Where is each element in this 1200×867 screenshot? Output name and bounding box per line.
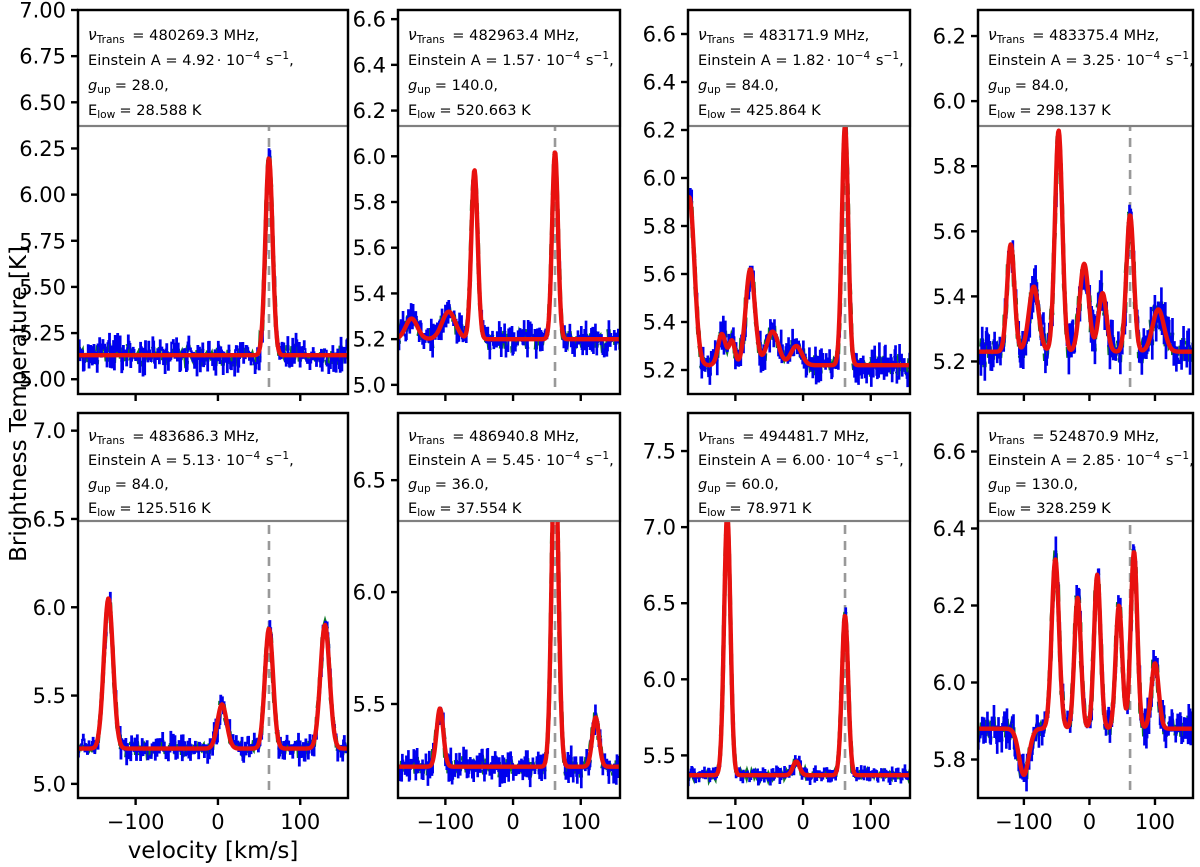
- y-tick-label: 6.75: [19, 45, 66, 69]
- y-tick-label: 6.6: [933, 440, 966, 464]
- y-tick-label: 6.0: [643, 167, 676, 191]
- y-axis-label: Brightness Temperature [K]: [6, 246, 32, 562]
- y-tick-label: 7.5: [643, 440, 676, 464]
- y-tick-label: 6.2: [353, 99, 386, 123]
- y-tick-label: 5.2: [643, 359, 676, 383]
- y-tick-label: 6.5: [353, 469, 386, 493]
- panel-7: νTrans = 494481.7 MHz,Einstein A = 6.00·…: [643, 413, 910, 834]
- x-tick-label: 0: [211, 810, 224, 834]
- y-tick-label: 6.0: [353, 145, 386, 169]
- y-tick-label: 7.0: [33, 419, 66, 443]
- x-tick-label: 100: [561, 810, 601, 834]
- y-tick-label: 6.00: [19, 183, 66, 207]
- y-tick-label: 5.8: [643, 215, 676, 239]
- y-tick-label: 5.8: [933, 155, 966, 179]
- y-tick-label: 5.0: [33, 772, 66, 796]
- y-tick-label: 5.0: [353, 373, 386, 397]
- y-tick-label: 6.4: [933, 517, 966, 541]
- y-tick-label: 5.4: [933, 285, 966, 309]
- y-tick-label: 6.2: [933, 25, 966, 49]
- x-tick-label: −100: [417, 810, 475, 834]
- x-tick-label: 100: [851, 810, 891, 834]
- y-tick-label: 5.5: [33, 684, 66, 708]
- y-tick-label: 6.0: [933, 671, 966, 695]
- y-tick-label: 6.4: [643, 71, 676, 95]
- annotation-einstein-a: Einstein A = 5.45· 10−4 s−1,: [408, 450, 614, 469]
- x-tick-label: 0: [1083, 810, 1096, 834]
- y-tick-label: 5.6: [353, 236, 386, 260]
- annotation-einstein-a: Einstein A = 2.85· 10−4 s−1,: [988, 450, 1194, 469]
- panel-8: νTrans = 524870.9 MHz,Einstein A = 2.85·…: [933, 413, 1194, 834]
- panel-1: νTrans = 480269.3 MHz,Einstein A = 4.92·…: [19, 0, 348, 401]
- x-tick-label: 100: [280, 810, 320, 834]
- panel-3: νTrans = 483171.9 MHz,Einstein A = 1.82·…: [643, 10, 910, 401]
- x-axis-label: velocity [km/s]: [128, 838, 299, 864]
- panel-6: νTrans = 486940.8 MHz,Einstein A = 5.45·…: [353, 413, 620, 834]
- y-tick-label: 5.4: [643, 311, 676, 335]
- panel-2: νTrans = 482963.4 MHz,Einstein A = 1.57·…: [353, 8, 620, 401]
- x-tick-label: 0: [796, 810, 809, 834]
- spectra-figure: νTrans = 480269.3 MHz,Einstein A = 4.92·…: [0, 0, 1200, 867]
- y-tick-label: 5.2: [933, 350, 966, 374]
- x-tick-label: 0: [506, 810, 519, 834]
- annotation-einstein-a: Einstein A = 5.13· 10−4 s−1,: [88, 450, 294, 469]
- y-tick-label: 6.0: [33, 596, 66, 620]
- y-tick-label: 6.6: [353, 8, 386, 32]
- y-tick-label: 6.2: [643, 119, 676, 143]
- annotation-einstein-a: Einstein A = 1.57· 10−4 s−1,: [408, 50, 614, 69]
- y-tick-label: 6.0: [353, 581, 386, 605]
- y-tick-label: 6.0: [643, 668, 676, 692]
- y-tick-label: 5.6: [643, 263, 676, 287]
- y-tick-label: 5.6: [933, 220, 966, 244]
- y-tick-label: 6.5: [33, 507, 66, 531]
- y-tick-label: 6.5: [643, 592, 676, 616]
- x-tick-label: −100: [995, 810, 1053, 834]
- x-tick-label: −100: [707, 810, 765, 834]
- y-tick-label: 6.4: [353, 53, 386, 77]
- panel-4: νTrans = 483375.4 MHz,Einstein A = 3.25·…: [933, 10, 1194, 401]
- y-tick-label: 5.5: [353, 692, 386, 716]
- annotation-einstein-a: Einstein A = 1.82· 10−4 s−1,: [698, 50, 904, 69]
- y-tick-label: 7.00: [19, 0, 66, 23]
- y-tick-label: 5.5: [643, 744, 676, 768]
- y-tick-label: 6.25: [19, 137, 66, 161]
- y-tick-label: 5.2: [353, 328, 386, 352]
- figure-canvas: νTrans = 480269.3 MHz,Einstein A = 4.92·…: [0, 0, 1200, 867]
- annotation-einstein-a: Einstein A = 4.92· 10−4 s−1,: [88, 50, 294, 69]
- annotation-einstein-a: Einstein A = 6.00· 10−4 s−1,: [698, 450, 904, 469]
- y-tick-label: 5.8: [933, 748, 966, 772]
- y-tick-label: 6.0: [933, 90, 966, 114]
- y-tick-label: 6.2: [933, 594, 966, 618]
- x-tick-label: −100: [107, 810, 165, 834]
- y-tick-label: 6.6: [643, 23, 676, 47]
- y-tick-label: 5.8: [353, 191, 386, 215]
- y-tick-label: 5.4: [353, 282, 386, 306]
- x-tick-label: 100: [1135, 810, 1175, 834]
- y-tick-label: 7.0: [643, 516, 676, 540]
- panel-5: νTrans = 483686.3 MHz,Einstein A = 5.13·…: [33, 413, 348, 834]
- y-tick-label: 6.50: [19, 91, 66, 115]
- annotation-einstein-a: Einstein A = 3.25· 10−4 s−1,: [988, 50, 1194, 69]
